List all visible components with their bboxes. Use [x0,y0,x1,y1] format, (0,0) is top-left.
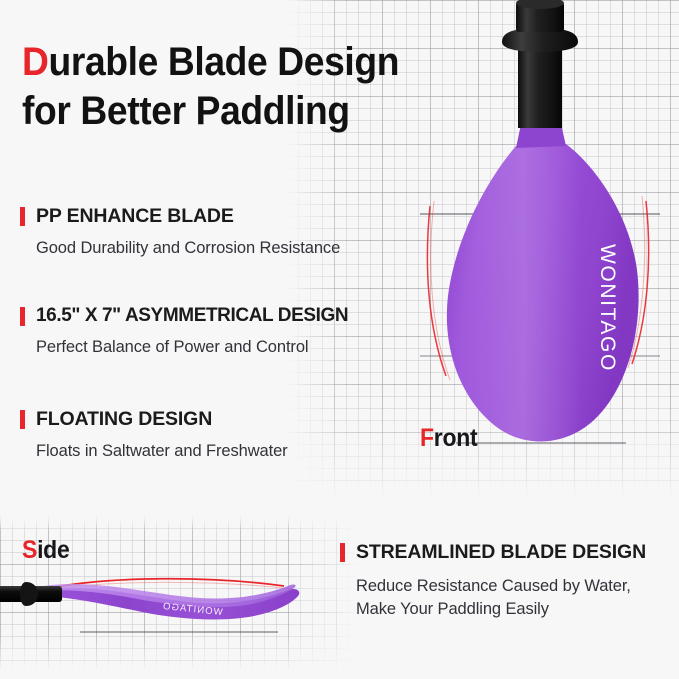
feature-title: 16.5" X 7" ASYMMETRICAL DESIGN [36,305,348,327]
outline-trace-left [427,206,446,376]
feature-title: STREAMLINED BLADE DESIGN [356,541,646,564]
page-title-line-1: Durable Blade Design [22,38,394,87]
feature-subtitle: Reduce Resistance Caused by Water, Make … [356,575,670,622]
view-label-front: Front [420,424,477,453]
view-label-side: Side [22,536,69,565]
feature-item-pp-enhance-blade: PP ENHANCE BLADE Good Durability and Cor… [20,205,412,260]
view-label-side-accent: S [22,536,37,564]
feature-title: PP ENHANCE BLADE [36,205,234,228]
feature-item-asymmetrical-design: 16.5" X 7" ASYMMETRICAL DESIGN Perfect B… [20,305,412,359]
paddle-front-view-illustration: WONITAGO [398,0,679,456]
paddle-shaft [518,44,562,128]
blade-brand-text: WONITAGO [596,244,619,372]
bullet-bar-icon [20,207,25,226]
view-label-front-rest: ront [434,424,478,452]
feature-heading-row: PP ENHANCE BLADE [20,205,412,228]
view-label-front-accent: F [420,424,434,452]
feature-title: FLOATING DESIGN [36,408,212,431]
feature-subtitle: Perfect Balance of Power and Control [36,336,412,359]
page-title-line-1-rest: urable Blade Design [49,40,400,84]
feature-subtitle-line-1: Reduce Resistance Caused by Water, [356,577,631,595]
outline-trace-left-ghost [431,201,450,380]
feature-subtitle: Floats in Saltwater and Freshwater [36,440,412,463]
infographic-page: Durable Blade Design for Better Paddling… [0,0,679,679]
page-title-line-2: for Better Paddling [22,87,394,136]
page-title-accent-letter: D [22,40,49,84]
bullet-bar-icon [20,410,25,429]
feature-subtitle: Good Durability and Corrosion Resistance [36,237,412,260]
feature-heading-row: FLOATING DESIGN [20,408,412,431]
side-shaft-collar [20,582,38,606]
feature-heading-row: 16.5" X 7" ASYMMETRICAL DESIGN [20,305,412,327]
bullet-bar-icon [340,543,345,562]
feature-item-floating-design: FLOATING DESIGN Floats in Saltwater and … [20,408,412,463]
bullet-bar-icon [20,307,25,326]
page-title: Durable Blade Design for Better Paddling [22,38,394,136]
feature-heading-row: STREAMLINED BLADE DESIGN [340,541,670,564]
feature-subtitle-line-2: Make Your Paddling Easily [356,600,549,618]
feature-item-streamlined-blade-design: STREAMLINED BLADE DESIGN Reduce Resistan… [340,541,670,622]
paddle-side-view-illustration: WONITAGO [0,560,322,650]
view-label-side-rest: ide [37,536,69,564]
